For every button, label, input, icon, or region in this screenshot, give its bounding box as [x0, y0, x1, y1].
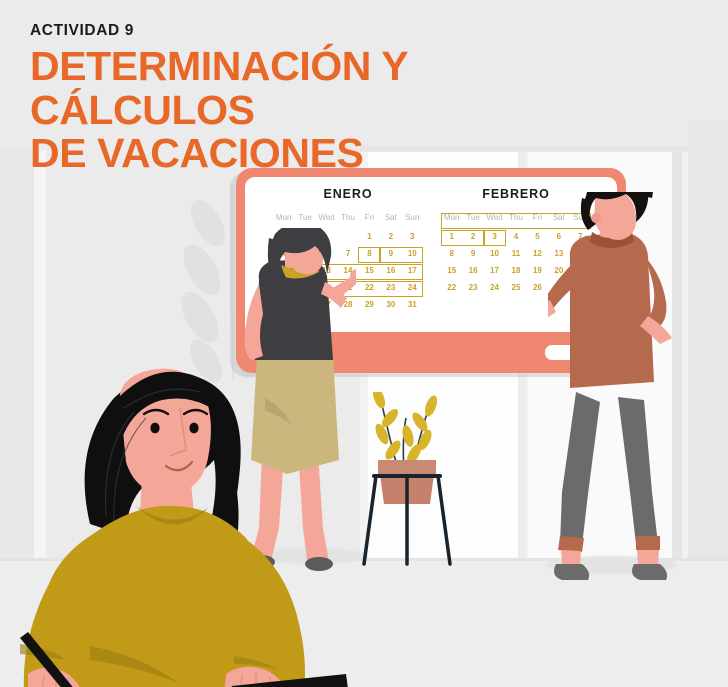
dow-wed: Wed [484, 213, 505, 225]
day-cell[interactable]: 23 [462, 282, 483, 293]
day-cell[interactable]: 4 [505, 231, 526, 242]
day-cell[interactable]: 22 [359, 282, 380, 293]
page-title: DETERMINACIÓN Y CÁLCULOS DE VACACIONES [30, 45, 590, 175]
day-cell[interactable]: 8 [441, 248, 462, 259]
calendar-title-enero: ENERO [273, 187, 423, 201]
dow-fri: Fri [527, 213, 548, 225]
figure-man-at-board [548, 192, 678, 587]
day-cell[interactable]: 24 [402, 282, 423, 293]
day-cell[interactable]: 1 [441, 231, 462, 242]
dow-mon: Mon [441, 213, 462, 225]
dow-thu: Thu [337, 213, 358, 225]
day-cell[interactable]: 9 [462, 248, 483, 259]
dow-tue: Tue [462, 213, 483, 225]
day-cell[interactable]: 18 [505, 265, 526, 276]
dow-fri: Fri [359, 213, 380, 225]
day-cell[interactable]: 19 [527, 265, 548, 276]
dow-mon: Mon [273, 213, 294, 225]
day-cell[interactable]: 2 [380, 231, 401, 242]
day-cell[interactable]: 11 [505, 248, 526, 259]
day-cell[interactable]: 31 [402, 299, 423, 310]
day-cell[interactable]: 2 [462, 231, 483, 242]
day-cell[interactable]: 17 [484, 265, 505, 276]
day-cell[interactable]: 10 [484, 248, 505, 259]
day-cell[interactable]: 23 [380, 282, 401, 293]
dow-sun: Sun [402, 213, 423, 225]
day-cell[interactable]: 26 [527, 282, 548, 293]
day-cell[interactable]: 15 [359, 265, 380, 276]
dow-thu: Thu [505, 213, 526, 225]
dow-tue: Tue [294, 213, 315, 225]
day-cell[interactable]: 17 [402, 265, 423, 276]
day-cell[interactable]: 1 [359, 231, 380, 242]
figure-plant-on-stand [352, 392, 462, 567]
dow-sat: Sat [380, 213, 401, 225]
day-cell[interactable]: 24 [484, 282, 505, 293]
day-cell[interactable]: 3 [484, 231, 505, 242]
day-cell[interactable]: 25 [505, 282, 526, 293]
day-cell[interactable]: 9 [380, 248, 401, 259]
day-cell[interactable]: 12 [527, 248, 548, 259]
day-cell[interactable]: 5 [527, 231, 548, 242]
day-cell[interactable]: 30 [380, 299, 401, 310]
day-cell[interactable]: 3 [402, 231, 423, 242]
day-cell[interactable]: 15 [441, 265, 462, 276]
dow-wed: Wed [316, 213, 337, 225]
day-cell[interactable]: 29 [359, 299, 380, 310]
activity-kicker: ACTIVIDAD 9 [30, 22, 590, 39]
figure-woman-foreground [0, 356, 349, 687]
day-cell[interactable]: 22 [441, 282, 462, 293]
day-cell[interactable]: 16 [462, 265, 483, 276]
illustration-canvas: ENERO Mon Tue Wed Thu Fri Sat Sun 1 2 3 [0, 0, 728, 687]
day-cell[interactable]: 16 [380, 265, 401, 276]
day-cell[interactable]: 8 [359, 248, 380, 259]
header-block: ACTIVIDAD 9 DETERMINACIÓN Y CÁLCULOS DE … [30, 22, 590, 175]
wall-pillar-right [688, 120, 728, 590]
day-cell[interactable]: 10 [402, 248, 423, 259]
